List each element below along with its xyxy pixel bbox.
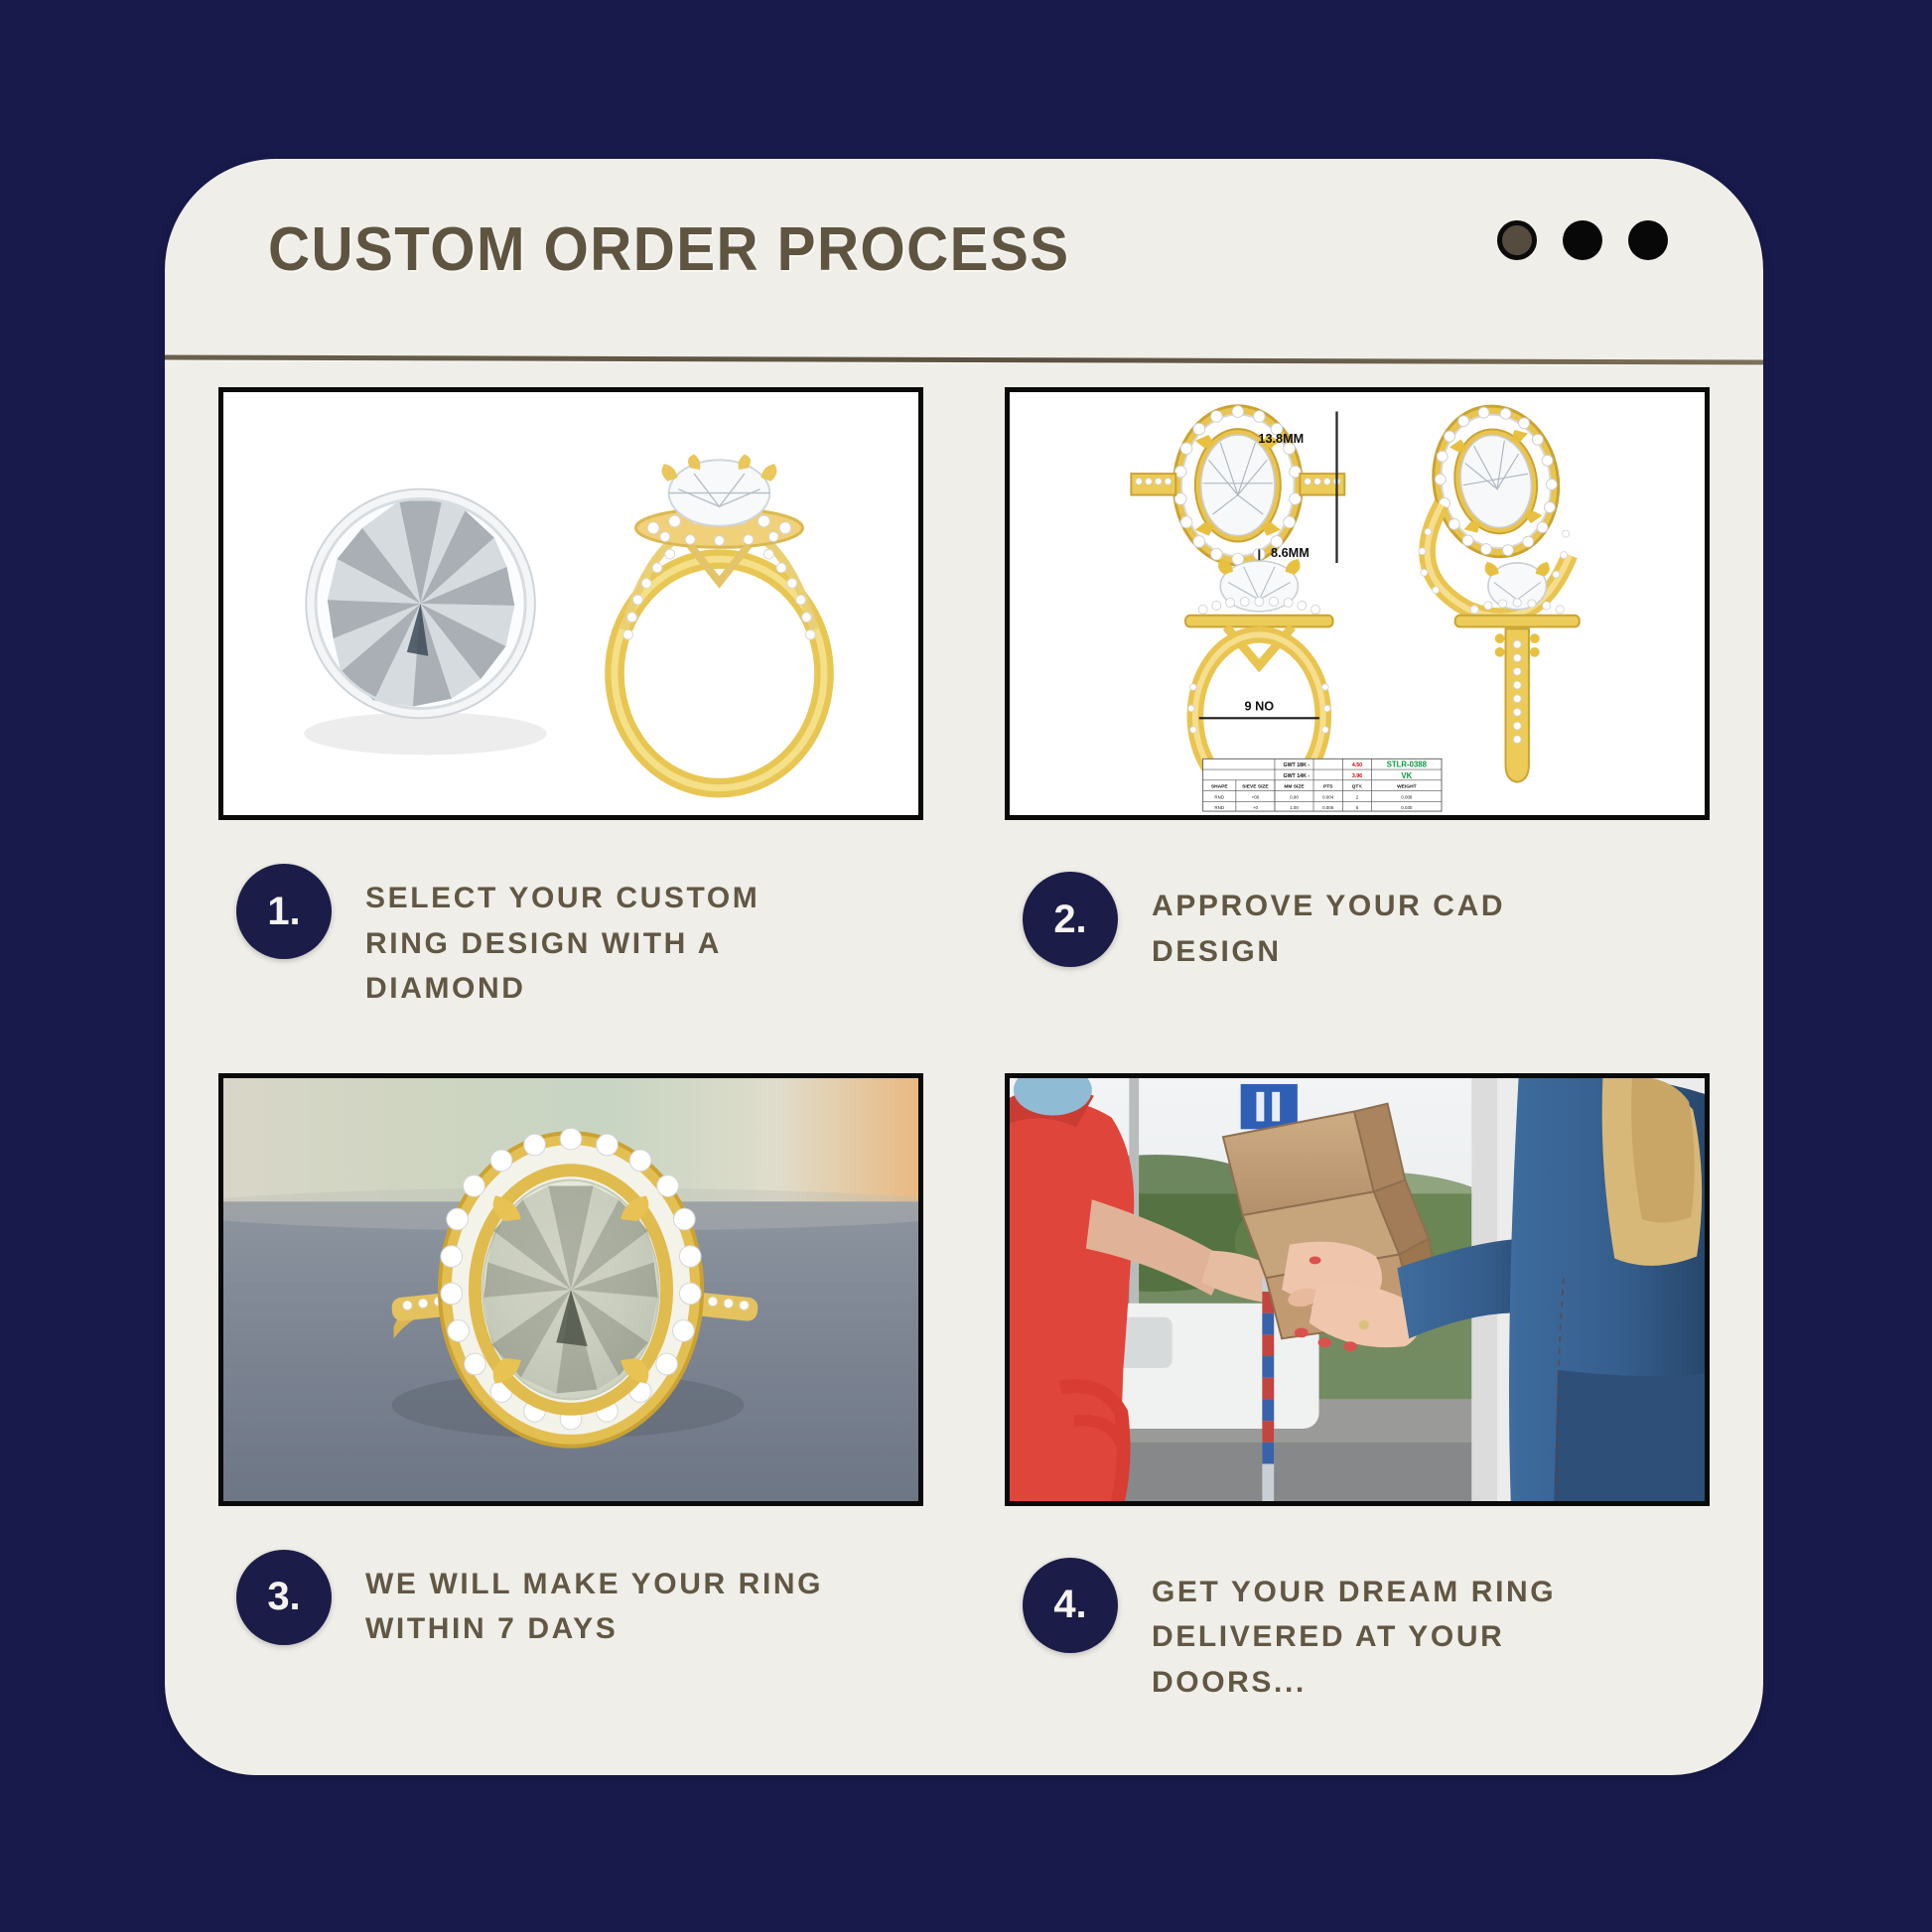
process-step-3: 3. WE WILL MAKE YOUR RING WITHIN 7 DAYS	[218, 1073, 923, 1706]
svg-text:GWT 14K -: GWT 14K -	[1283, 773, 1310, 779]
window-header: CUSTOM ORDER PROCESS	[165, 159, 1763, 365]
svg-text:1.00: 1.00	[1290, 805, 1299, 810]
cad-ring-size: 9 NO	[1245, 699, 1275, 713]
svg-text:+0: +0	[1253, 805, 1259, 810]
step-1-label: SELECT YOUR CUSTOM RING DESIGN WITH A DI…	[365, 864, 832, 1012]
svg-text:0.004: 0.004	[1322, 794, 1334, 799]
svg-text:PTS: PTS	[1323, 784, 1333, 790]
svg-text:MM SIZE: MM SIZE	[1284, 784, 1305, 790]
svg-text:STLR-0388: STLR-0388	[1387, 760, 1428, 769]
svg-text:+00: +00	[1252, 794, 1260, 799]
step-4-image-frame[interactable]	[1005, 1073, 1710, 1506]
header-divider	[165, 354, 1763, 364]
poster-stage: CUSTOM ORDER PROCESS	[0, 0, 1932, 1932]
svg-text:0.030: 0.030	[1401, 805, 1413, 810]
svg-text:WEIGHT: WEIGHT	[1397, 784, 1417, 790]
svg-text:0.005: 0.005	[1322, 805, 1334, 810]
process-step-4: 4. GET YOUR DREAM RING DELIVERED AT YOUR…	[1005, 1073, 1710, 1706]
step-1-image-frame[interactable]	[218, 387, 923, 820]
step-2-image-frame[interactable]: 13.8MM	[1005, 387, 1710, 820]
window-dot-close-icon[interactable]	[1497, 220, 1537, 260]
svg-text:QTY.: QTY.	[1352, 784, 1363, 790]
page-title: CUSTOM ORDER PROCESS	[268, 214, 1070, 285]
svg-text:4.50: 4.50	[1352, 762, 1362, 768]
diamond-and-ring-illustration	[223, 392, 918, 815]
svg-text:3.96: 3.96	[1352, 773, 1362, 779]
step-3-image-frame[interactable]	[218, 1073, 923, 1506]
svg-text:SIEVE SIZE: SIEVE SIZE	[1242, 784, 1269, 790]
step-2-caption: 2. APPROVE YOUR CAD DESIGN	[1005, 872, 1710, 974]
window-dot-maximize-icon[interactable]	[1628, 220, 1668, 260]
app-window-card: CUSTOM ORDER PROCESS	[165, 159, 1763, 1775]
svg-text:RND: RND	[1214, 805, 1224, 810]
process-step-2: 13.8MM	[1005, 387, 1710, 1012]
cad-dimension-mid: 8.6MM	[1271, 546, 1310, 560]
svg-text:0.90: 0.90	[1290, 794, 1299, 799]
step-2-number-badge: 2.	[1023, 872, 1118, 967]
cad-spec-table: GWT 18K - 4.50 STLR-0388 GWT 14K - 3.96 …	[1203, 759, 1442, 811]
window-controls[interactable]	[1497, 220, 1668, 260]
svg-text:RND: RND	[1214, 794, 1224, 799]
window-dot-minimize-icon[interactable]	[1563, 220, 1602, 260]
step-1-caption: 1. SELECT YOUR CUSTOM RING DESIGN WITH A…	[218, 864, 923, 1012]
step-4-number-badge: 4.	[1023, 1558, 1118, 1653]
cad-drawing-illustration: 13.8MM	[1010, 392, 1705, 815]
delivery-photo	[1010, 1078, 1705, 1501]
step-1-number-badge: 1.	[236, 864, 332, 959]
svg-text:SHAPE: SHAPE	[1211, 784, 1229, 790]
step-4-label: GET YOUR DREAM RING DELIVERED AT YOUR DO…	[1152, 1558, 1618, 1706]
step-4-caption: 4. GET YOUR DREAM RING DELIVERED AT YOUR…	[1005, 1558, 1710, 1706]
step-2-label: APPROVE YOUR CAD DESIGN	[1152, 872, 1618, 974]
finished-ring-photo	[223, 1078, 918, 1501]
svg-text:VK: VK	[1401, 771, 1412, 780]
svg-text:GWT 18K -: GWT 18K -	[1283, 762, 1310, 768]
process-step-1: 1. SELECT YOUR CUSTOM RING DESIGN WITH A…	[218, 387, 923, 1012]
process-steps-grid: 1. SELECT YOUR CUSTOM RING DESIGN WITH A…	[218, 387, 1710, 1706]
step-3-number-badge: 3.	[236, 1550, 332, 1645]
svg-text:0.008: 0.008	[1401, 794, 1413, 799]
cad-dimension-top: 13.8MM	[1258, 432, 1304, 446]
step-3-label: WE WILL MAKE YOUR RING WITHIN 7 DAYS	[365, 1550, 832, 1652]
step-3-caption: 3. WE WILL MAKE YOUR RING WITHIN 7 DAYS	[218, 1550, 923, 1652]
